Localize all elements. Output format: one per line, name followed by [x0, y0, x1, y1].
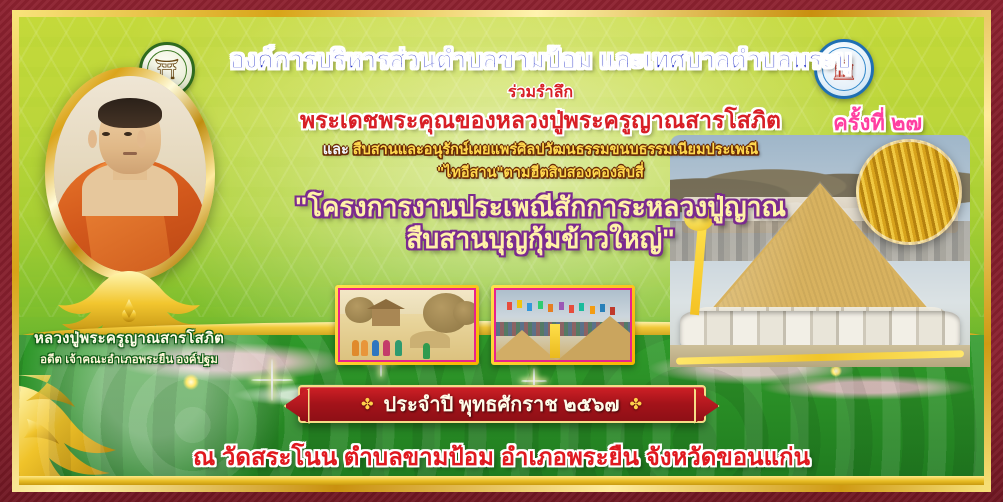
photo-strip [335, 285, 635, 365]
mural-figure-6 [423, 343, 430, 359]
portrait-caption-title: อดีต เจ้าคณะอำเภอพระยืน องค์ปฐม [23, 351, 235, 369]
purpose-line-1: และ สืบสานและอนุรักษ์เผยแพร่ศิลปวัฒนธรรม… [195, 142, 886, 160]
bottom-gold-strip [19, 476, 984, 485]
purpose-line-2: "ไทอีสาน"ตามฮีตสิบสองคองสิบสี่ [195, 161, 886, 184]
mural-tree-3 [453, 301, 476, 325]
festival-yellow-flag [550, 324, 560, 358]
portrait-gold-frame [45, 67, 215, 281]
flower-ornament-left-icon: ✤ [361, 397, 374, 412]
honoree-name: พระเดชพระคุณของหลวงปู่พระครูญาณสารโสภิต [195, 108, 886, 133]
monk-ear-right [137, 130, 146, 148]
monk-hair [98, 98, 162, 128]
project-title-line-1: "โครงการงานประเพณีสักการะหลวงปู่ญาณ [195, 192, 886, 224]
sparkle-1 [251, 359, 293, 401]
glow-dot-1 [183, 374, 199, 390]
purpose-text-1: สืบสานและอนุรักษ์เผยแพร่ศิลปวัฒนธรรมขนบธ… [353, 142, 758, 158]
monk-mouth [123, 152, 137, 155]
flower-ornament-right-icon: ✤ [629, 397, 642, 412]
organizations-title: องค์การบริหารส่วนตำบลขามป้อม และเทศบาลตำ… [195, 47, 886, 74]
monk-eye-left [102, 132, 110, 136]
project-title-line-2: สืบสานบุญกุ้มข้าวใหญ่" [195, 224, 886, 256]
portrait-caption-name: หลวงปู่พระครูญาณสารโสภิต [23, 326, 235, 350]
edition-badge: ครั้งที่ ๒๗ [833, 105, 922, 140]
year-ribbon-banner: ✤ ประจำปี พุทธศักราช ๒๕๖๗ ✤ [298, 385, 706, 423]
mural-figure-5 [395, 340, 402, 356]
portrait-caption: หลวงปู่พระครูญาณสารโสภิต อดีต เจ้าคณะอำเ… [23, 326, 235, 369]
monk-ear-left [88, 130, 97, 148]
mural-scene [340, 290, 474, 360]
festival-rice-mound-small [494, 330, 556, 360]
purpose-lead: และ [323, 142, 349, 158]
mural-figure-1 [352, 340, 359, 356]
monk-portrait-icon [54, 76, 206, 272]
mural-figure-4 [383, 340, 390, 356]
festival-banner: ⛩ 🏛 องค์การบริหารส่วนตำบลขามป้อม และเทศบ… [0, 0, 1003, 502]
venue-line: ณ วัดสระโนน ตำบลขามป้อม อำเภอพระยืน จังห… [19, 437, 984, 476]
mural-figure-2 [361, 340, 368, 356]
festival-rice-mound-large [558, 316, 632, 360]
commemorate-label: ร่วมรำลึก [195, 80, 886, 105]
banner-canvas: ⛩ 🏛 องค์การบริหารส่วนตำบลขามป้อม และเทศบ… [19, 17, 984, 485]
mural-hut [372, 308, 400, 326]
photo-inner-border [494, 288, 632, 362]
year-text: ประจำปี พุทธศักราช ๒๕๖๗ [384, 388, 620, 420]
mural-painting-photo [335, 285, 479, 365]
headline-block: องค์การบริหารส่วนตำบลขามป้อม และเทศบาลตำ… [195, 47, 886, 256]
photo-inner-border [338, 288, 476, 362]
festival-scene [496, 290, 630, 360]
rice-festival-photo [491, 285, 635, 365]
monk-eye-right [124, 132, 132, 136]
mural-figure-3 [372, 340, 379, 356]
